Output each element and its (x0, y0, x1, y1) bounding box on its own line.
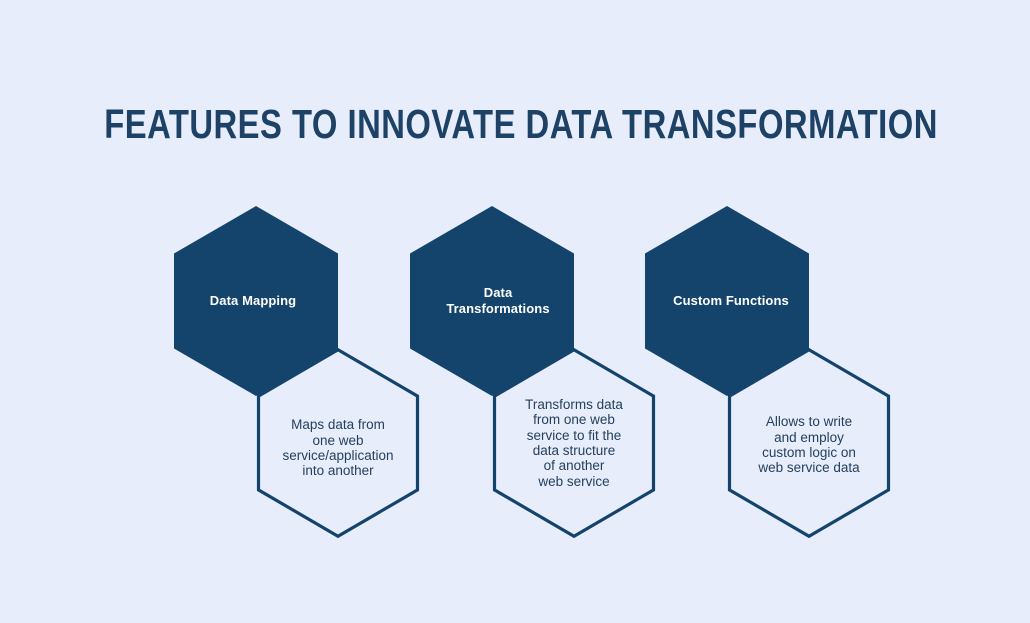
title-hexagon-data-transformations[interactable]: Data Transformations (410, 206, 574, 396)
hexagon-filled-shape (645, 206, 809, 396)
infographic-canvas: Features to Innovate Data Transformation… (0, 0, 1030, 623)
title-hexagon-custom-functions[interactable]: Custom Functions (645, 206, 809, 396)
hexagon-stage: Maps data from one web service/applicati… (0, 0, 1030, 623)
hexagon-filled-shape (174, 206, 338, 396)
feature-group-custom-functions: Allows to write and employ custom logic … (645, 0, 945, 623)
hexagon-filled-shape (410, 206, 574, 396)
title-hexagon-data-mapping[interactable]: Data Mapping (174, 206, 338, 396)
